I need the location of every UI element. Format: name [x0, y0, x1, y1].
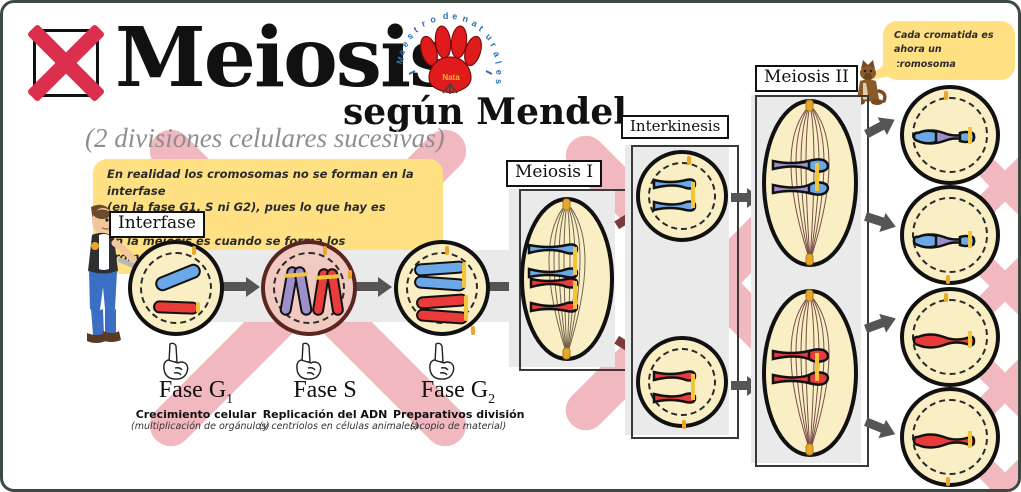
svg-text:t: t: [477, 24, 485, 34]
phase-note: (multiplicación de orgánulos): [131, 421, 261, 432]
phase-title: Fase S: [259, 377, 391, 408]
svg-text:r: r: [488, 41, 499, 50]
arrow-interkinesis-to-meiosis2-top: [731, 193, 749, 202]
svg-text:Nata: Nata: [442, 73, 460, 82]
section-label-interfase: Interfase: [109, 211, 205, 238]
arrow-interkinesis-to-meiosis2-bottom: [731, 381, 749, 390]
paw-print-icon: Nata M a e s t r o d e n a t u r a: [391, 9, 509, 105]
phase-caption-s: Fase S Replicación del ADN (y centriolos…: [259, 377, 391, 432]
phase-note: (acopio de material): [393, 421, 523, 432]
page-parenthetical: (2 divisiones celulares sucesivas): [85, 123, 445, 154]
phase-subtitle: Replicación del ADN: [259, 408, 391, 421]
cell-fase-g1: [128, 240, 224, 336]
chromatid-red-lower: [416, 308, 469, 325]
section-label-meiosis-i: Meiosis I: [506, 160, 602, 187]
svg-text:a: a: [491, 50, 503, 60]
meiosis-ii-dividing-cell-red: [759, 287, 861, 459]
phase-subtitle: Crecimiento celular: [131, 408, 261, 421]
phase-title: Fase G1: [131, 377, 261, 408]
centromere-marker: [464, 295, 468, 321]
svg-text:a: a: [470, 18, 480, 30]
svg-text:l: l: [493, 60, 503, 65]
meiosis-infographic: Meiosis según Mendel (2 divisiones celul…: [0, 0, 1021, 492]
chromosome-single-red: [904, 291, 998, 385]
svg-text:r: r: [420, 18, 427, 29]
meiosis-i-dividing-cell: [517, 195, 617, 363]
svg-text:o: o: [429, 14, 437, 25]
centriole-icon: [323, 246, 327, 255]
centriole-icon: [471, 326, 475, 335]
centriole-icon: [348, 270, 352, 279]
chromosome-single-blue-purple: [904, 89, 998, 183]
phase-subtitle: Preparativos división: [393, 408, 523, 421]
phase-caption-g1: Fase G1 Crecimiento celular (multiplicac…: [131, 377, 261, 432]
svg-text:u: u: [484, 31, 495, 42]
dog-note-line-1: Cada cromatida es: [894, 29, 1004, 43]
note-line-1: En realidad los cromosomas no se forman …: [107, 166, 431, 199]
gamete-cell-1: [900, 85, 1000, 185]
gamete-cell-4: [900, 387, 1000, 487]
dog-note-line-2: ahora un cromosoma: [894, 43, 1004, 72]
centriole-icon: [192, 246, 196, 255]
svg-text:s: s: [405, 31, 415, 42]
centriole-icon: [445, 246, 449, 255]
pointing-hand-icon: [294, 341, 324, 381]
svg-text:e: e: [400, 39, 411, 49]
gamete-cell-2: [900, 185, 1000, 285]
chromosome-single-red: [904, 391, 998, 485]
chromosome-red: [153, 300, 199, 315]
chromosome-blue-duplicated: [640, 154, 726, 240]
pointing-hand-icon: [161, 341, 191, 381]
svg-text:n: n: [461, 13, 469, 24]
centromere-marker: [196, 302, 200, 313]
centromere-marker: [462, 262, 466, 288]
red-cross-box-icon: [33, 29, 99, 97]
brand-logo: Nata M a e s t r o d e n a t u r a: [391, 9, 509, 105]
svg-text:e: e: [452, 11, 458, 21]
svg-text:d: d: [443, 11, 449, 21]
svg-text:s: s: [494, 79, 504, 84]
phase-note: (y centriolos en células animales): [259, 421, 391, 432]
gamete-cell-3: [900, 287, 1000, 387]
phase-caption-g2: Fase G2 Preparativos división (acopio de…: [393, 377, 523, 432]
svg-text:t: t: [412, 25, 420, 35]
cell-fase-g2: [394, 240, 490, 336]
cell-interkinesis-blue: [636, 150, 728, 242]
chromosome-single-blue-purple: [904, 189, 998, 283]
meiosis-ii-dividing-cell-blue: [759, 97, 861, 269]
dog-note-callout: Cada cromatida es ahora un cromosoma: [883, 21, 1015, 80]
cell-interkinesis-red: [636, 336, 728, 428]
phase-title: Fase G2: [393, 377, 523, 408]
section-label-interkinesis: Interkinesis: [621, 115, 729, 139]
section-label-meiosis-ii: Meiosis II: [755, 65, 858, 92]
cell-fase-s: [261, 240, 357, 336]
chromosome-red-duplicated: [640, 340, 726, 426]
svg-text:e: e: [494, 69, 504, 75]
pointing-hand-icon: [427, 341, 457, 381]
